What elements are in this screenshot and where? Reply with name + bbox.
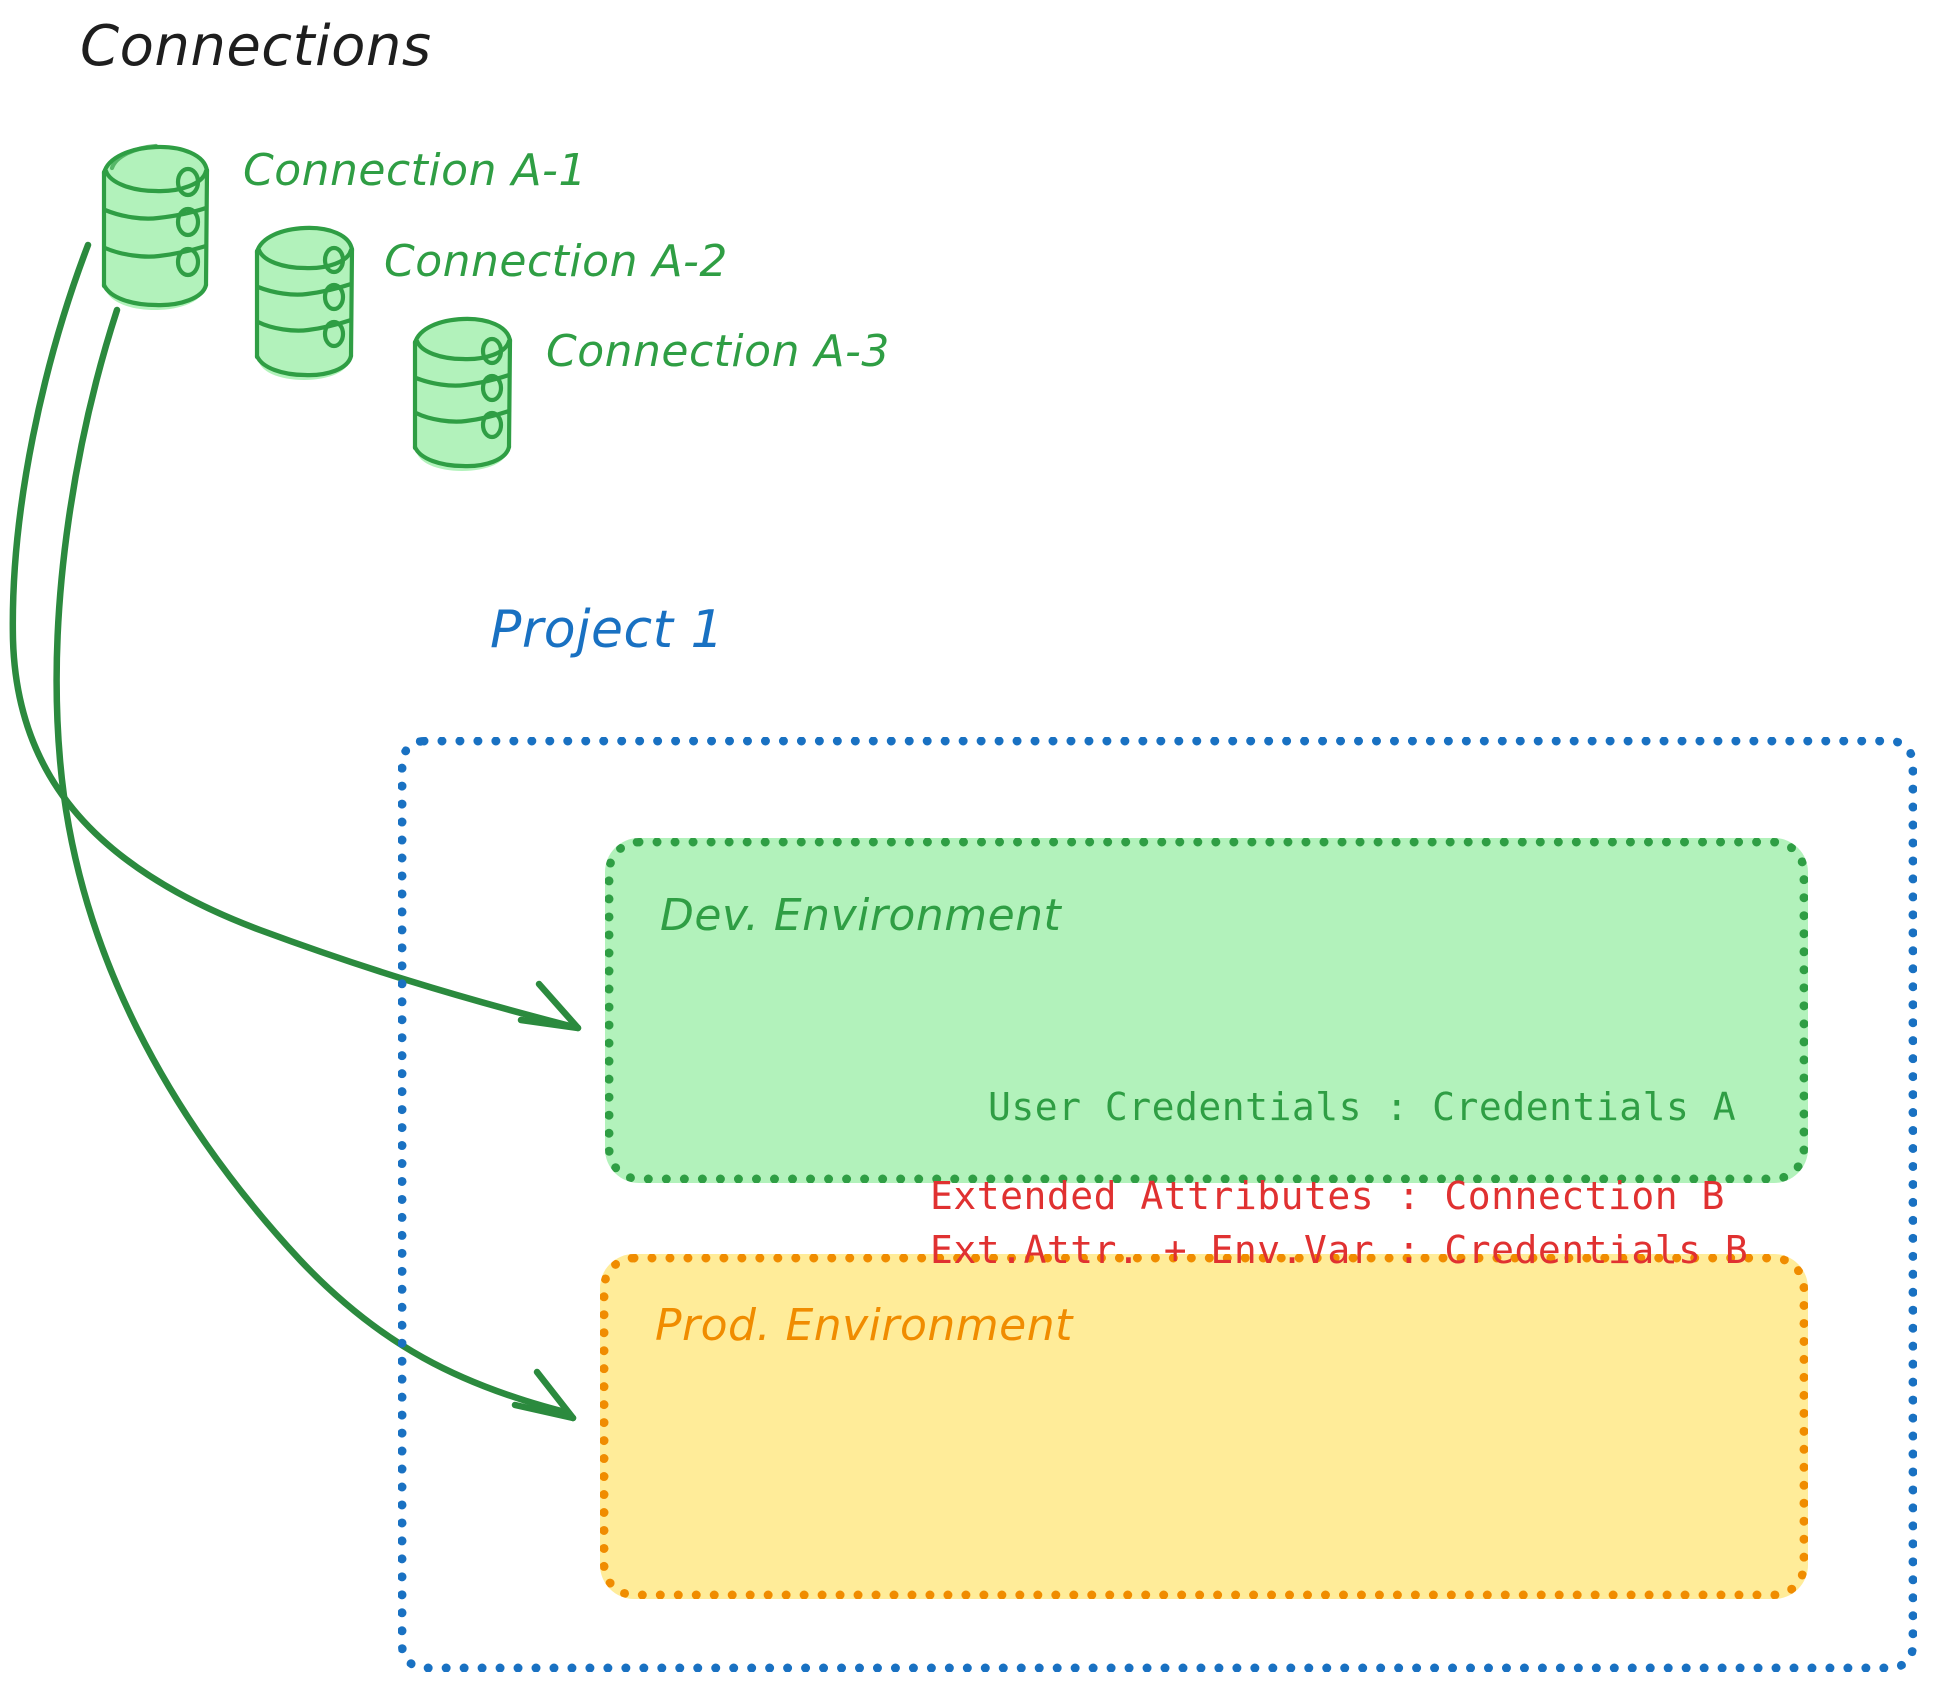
prod-environment-title: Prod. Environment [655,1300,1073,1351]
project-title: Project 1 [490,600,724,660]
dev-environment-credentials-line: User Credentials : Credentials A [988,1085,1736,1129]
prod-environment-env-var-line: Ext.Attr. + Env.Var : Credentials B [930,1224,1748,1278]
connection-label-a2: Connection A-2 [384,236,728,287]
connection-label-a3: Connection A-3 [546,326,890,377]
prod-environment-lines: Extended Attributes : Connection B Ext.A… [930,1170,1748,1278]
database-icon [415,319,510,471]
connections-heading: Connections [80,14,432,79]
dev-environment-title: Dev. Environment [660,890,1061,941]
database-icon [104,146,207,310]
diagram-canvas: Connections [0,0,1938,1691]
connection-label-a1: Connection A-1 [243,145,587,196]
prod-environment-extended-attributes-line: Extended Attributes : Connection B [930,1170,1748,1224]
database-icon [257,228,352,380]
